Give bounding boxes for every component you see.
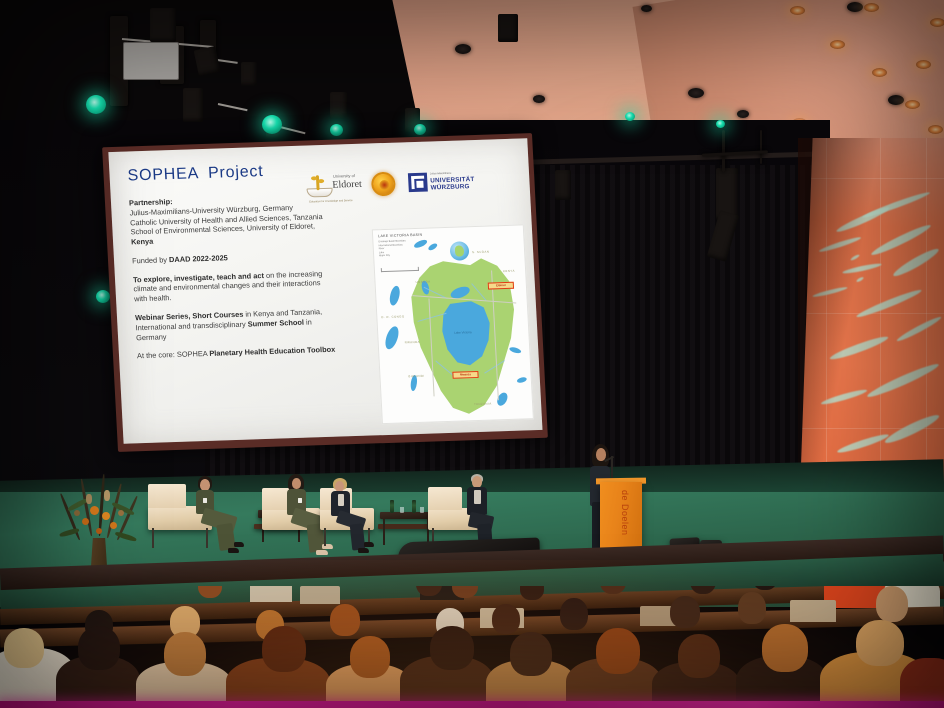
panelist bbox=[190, 476, 250, 560]
core-bold: Planetary Health Education Toolbox bbox=[209, 345, 335, 358]
map-water-body bbox=[388, 285, 401, 307]
sofa-leg bbox=[152, 528, 154, 548]
flower-bloom bbox=[118, 510, 124, 516]
ceiling-downlight-icon bbox=[872, 68, 887, 77]
sofa-leg bbox=[324, 528, 326, 546]
seat-back bbox=[300, 586, 340, 604]
ceiling-recess-icon bbox=[641, 5, 652, 12]
flower-bloom bbox=[74, 510, 80, 516]
map-lake-label: Lake Victoria bbox=[454, 331, 471, 336]
map-country-label: TANZANIA bbox=[474, 403, 492, 407]
shoe bbox=[364, 542, 374, 547]
floor-led-strip bbox=[0, 701, 944, 708]
conference-hall-scene: SOPHEAProject Partnership: Julius-Maximi… bbox=[0, 0, 944, 708]
stage-light-teal bbox=[330, 124, 343, 136]
ceiling-downlight-icon bbox=[790, 6, 805, 15]
audience-head bbox=[596, 628, 640, 674]
shoe bbox=[228, 548, 239, 553]
funding-value: DAAD 2022-2025 bbox=[169, 253, 228, 264]
map-highlight-eldoret: Eldoret bbox=[488, 282, 514, 290]
flower-arrangement bbox=[52, 472, 148, 552]
audience-head bbox=[350, 636, 390, 678]
slide-title-main: SOPHEA bbox=[127, 165, 199, 184]
audience-head bbox=[560, 598, 588, 630]
audience-head bbox=[678, 634, 720, 678]
table-leg bbox=[383, 519, 385, 545]
stage-light-fixture bbox=[150, 8, 176, 42]
cuhas-seal-logo bbox=[371, 172, 396, 197]
audience-head bbox=[262, 626, 306, 672]
lighting-pipe bbox=[760, 130, 762, 164]
flower-bloom bbox=[86, 494, 92, 504]
eldoret-tagline: Education for Knowledge and Service bbox=[309, 199, 352, 204]
ceiling-recess-icon bbox=[847, 2, 863, 12]
map-country-label: D. R. CONGO bbox=[381, 315, 404, 319]
seat-back bbox=[790, 600, 836, 622]
wuerzburg-square-icon bbox=[408, 173, 428, 193]
flower-bloom bbox=[110, 522, 117, 529]
map-title: LAKE VICTORIA BASIN bbox=[378, 233, 423, 239]
map-water-body bbox=[516, 376, 527, 384]
audience-head bbox=[4, 628, 44, 668]
stage-light-fixture bbox=[241, 62, 257, 86]
map-country-label: KENYA bbox=[503, 270, 515, 274]
audience-head bbox=[198, 586, 222, 598]
side-table bbox=[380, 512, 432, 519]
funding-prefix: Funded by bbox=[132, 255, 169, 265]
partnership-line: Kenya bbox=[131, 237, 154, 247]
ceiling-downlight-icon bbox=[928, 125, 943, 134]
equipment-plate bbox=[123, 42, 179, 80]
core-prefix: At the core: SOPHEA bbox=[137, 349, 210, 360]
drinking-glass bbox=[420, 507, 424, 513]
ceiling-downlight-icon bbox=[930, 18, 944, 27]
map-water-body bbox=[509, 346, 522, 354]
ceiling-recess-icon bbox=[688, 88, 704, 98]
stage-light-teal bbox=[625, 112, 635, 121]
map-country-label: RWANDA bbox=[405, 341, 420, 345]
map-highlight-mwanza: Mwanza bbox=[452, 371, 478, 379]
legs bbox=[350, 523, 366, 550]
water-bottle bbox=[412, 500, 416, 513]
name-badge bbox=[203, 498, 207, 503]
ceiling-downlight-icon bbox=[905, 100, 920, 109]
panel-sofa-back bbox=[148, 484, 186, 508]
flower-bloom bbox=[102, 512, 110, 520]
lighting-pipe bbox=[722, 130, 725, 172]
ceiling-downlight-icon bbox=[830, 40, 845, 49]
ceiling-recess-icon bbox=[888, 95, 904, 105]
wuerzburg-line-2: WÜRZBURG bbox=[430, 183, 469, 193]
head bbox=[292, 478, 301, 489]
stage-light-teal bbox=[86, 95, 106, 114]
stage-light-fixture bbox=[330, 92, 347, 118]
funding-block: Funded by DAAD 2022-2025 bbox=[132, 248, 387, 266]
screen-surface: SOPHEAProject Partnership: Julius-Maximi… bbox=[108, 138, 542, 443]
university-of-eldoret-logo: University of Eldoret Education for Know… bbox=[306, 170, 360, 202]
water-bottle bbox=[390, 500, 394, 513]
slide-body: Partnership: Julius-Maximilians-Universi… bbox=[129, 190, 392, 361]
aim-block: To explore, investigate, teach and act o… bbox=[133, 267, 389, 305]
stage-light-fixture bbox=[183, 88, 203, 122]
eldoret-name-text: Eldoret bbox=[332, 178, 362, 192]
stage-light-teal bbox=[96, 290, 110, 303]
flower-bloom bbox=[90, 506, 99, 515]
flower-stem bbox=[98, 474, 105, 536]
flower-bloom bbox=[104, 490, 110, 501]
audience-head bbox=[856, 620, 904, 666]
audience-head bbox=[876, 586, 908, 622]
audience-head bbox=[492, 604, 520, 634]
audience-head bbox=[738, 592, 766, 624]
shoe bbox=[358, 548, 369, 553]
ceiling-downlight-icon bbox=[916, 60, 931, 69]
map-scale-bar bbox=[381, 267, 419, 272]
shirt bbox=[338, 494, 344, 506]
podium-label: de Doelen bbox=[620, 490, 630, 536]
map-country-label: UGANDA bbox=[416, 280, 431, 284]
activities-post: in bbox=[304, 317, 312, 326]
map-water-body bbox=[383, 325, 401, 351]
flower-bloom bbox=[82, 518, 89, 525]
stage-light-teal bbox=[262, 115, 282, 134]
map-country-label: BURUNDI bbox=[408, 375, 424, 379]
ceiling-downlight-icon bbox=[864, 3, 879, 12]
lake-victoria-basin-map: LAKE VICTORIA BASIN Drainage Basin Bound… bbox=[372, 224, 534, 424]
slide-title-sub: Project bbox=[208, 163, 264, 182]
audience-head bbox=[510, 632, 552, 676]
map-water-body bbox=[427, 242, 438, 252]
name-badge bbox=[298, 498, 302, 503]
audience-head bbox=[762, 624, 808, 672]
stage-light-teal bbox=[414, 124, 426, 135]
presentation-slide: SOPHEAProject Partnership: Julius-Maximi… bbox=[108, 138, 542, 443]
shirt bbox=[474, 490, 481, 504]
legs bbox=[216, 523, 235, 551]
stage-light-fixture bbox=[555, 170, 571, 200]
partnership-label: Partnership: bbox=[129, 197, 173, 207]
stage-light-fixture bbox=[498, 14, 518, 42]
book-icon bbox=[307, 188, 333, 198]
flower-bloom bbox=[96, 528, 102, 534]
ceiling-recess-icon bbox=[533, 95, 545, 103]
projection-screen: SOPHEAProject Partnership: Julius-Maximi… bbox=[102, 133, 548, 452]
activities-bold-2: Summer School bbox=[247, 317, 304, 328]
activities-block: Webinar Series, Short Courses in Kenya a… bbox=[135, 305, 391, 343]
core-block: At the core: SOPHEA Planetary Health Edu… bbox=[137, 343, 392, 361]
ceiling-recess-icon bbox=[737, 110, 749, 118]
panelist bbox=[327, 478, 383, 562]
flower-leaf bbox=[115, 531, 137, 543]
map-country-label: S. SUDAN bbox=[472, 251, 489, 255]
wheat-icon bbox=[316, 175, 320, 190]
universitaet-wuerzburg-logo: Julius-Maximilians- UNIVERSITÄT WÜRZBURG bbox=[408, 168, 471, 196]
podium: de Doelen bbox=[600, 482, 642, 554]
panel-sofa-back bbox=[428, 487, 462, 510]
side-table bbox=[378, 524, 432, 529]
seat-back bbox=[250, 586, 292, 602]
wuerzburg-small-text: Julius-Maximilians- bbox=[430, 172, 452, 176]
audience-head bbox=[670, 596, 700, 628]
map-globe-inset bbox=[450, 241, 470, 261]
audience-head bbox=[330, 604, 360, 636]
audience-head bbox=[164, 632, 206, 676]
map-legend: Drainage Basin BoundaryInternational Bou… bbox=[378, 239, 406, 258]
ceiling-recess-icon bbox=[455, 44, 471, 54]
stage-light-teal bbox=[716, 120, 725, 128]
partner-logos: University of Eldoret Education for Know… bbox=[305, 162, 487, 206]
audience-head bbox=[430, 626, 474, 670]
map-water-body bbox=[413, 238, 428, 249]
shoe bbox=[234, 542, 244, 547]
audience-head bbox=[78, 626, 120, 670]
drinking-glass bbox=[400, 507, 404, 513]
audience-area bbox=[0, 586, 944, 708]
